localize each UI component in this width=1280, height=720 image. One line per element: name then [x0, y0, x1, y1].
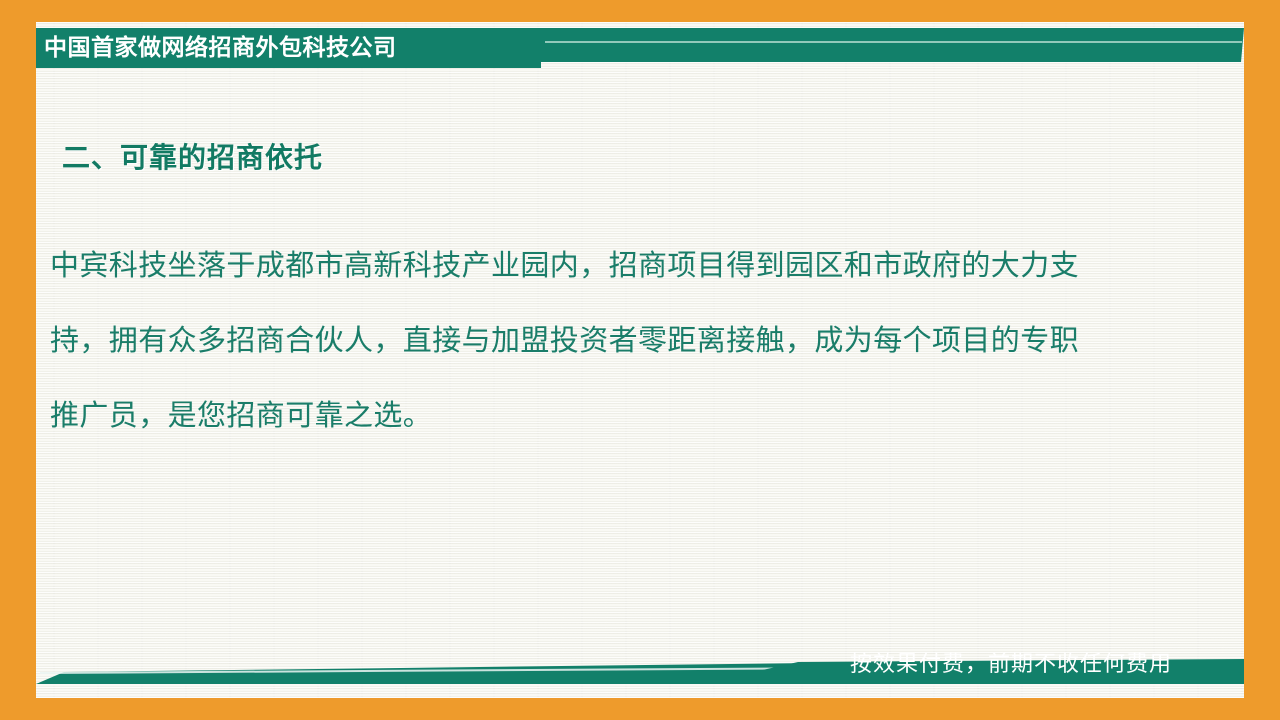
body-line-2: 持，拥有众多招商合伙人，直接与加盟投资者零距离接触，成为每个项目的专职 [50, 303, 1190, 378]
footer-tagline: 按效果付费，前期不收任何费用 [850, 648, 1172, 682]
section-heading: 二、可靠的招商依托 [62, 136, 323, 176]
slide-canvas: 中国首家做网络招商外包科技公司 二、可靠的招商依托 中宾科技坐落于成都市高新科技… [0, 0, 1280, 720]
body-line-1: 中宾科技坐落于成都市高新科技产业园内，招商项目得到园区和市政府的大力支 [50, 228, 1190, 303]
header-title: 中国首家做网络招商外包科技公司 [44, 30, 397, 66]
body-line-3: 推广员，是您招商可靠之选。 [50, 378, 1190, 453]
body-paragraph: 中宾科技坐落于成都市高新科技产业园内，招商项目得到园区和市政府的大力支 持，拥有… [50, 228, 1190, 453]
header-divider-line [545, 41, 1242, 43]
